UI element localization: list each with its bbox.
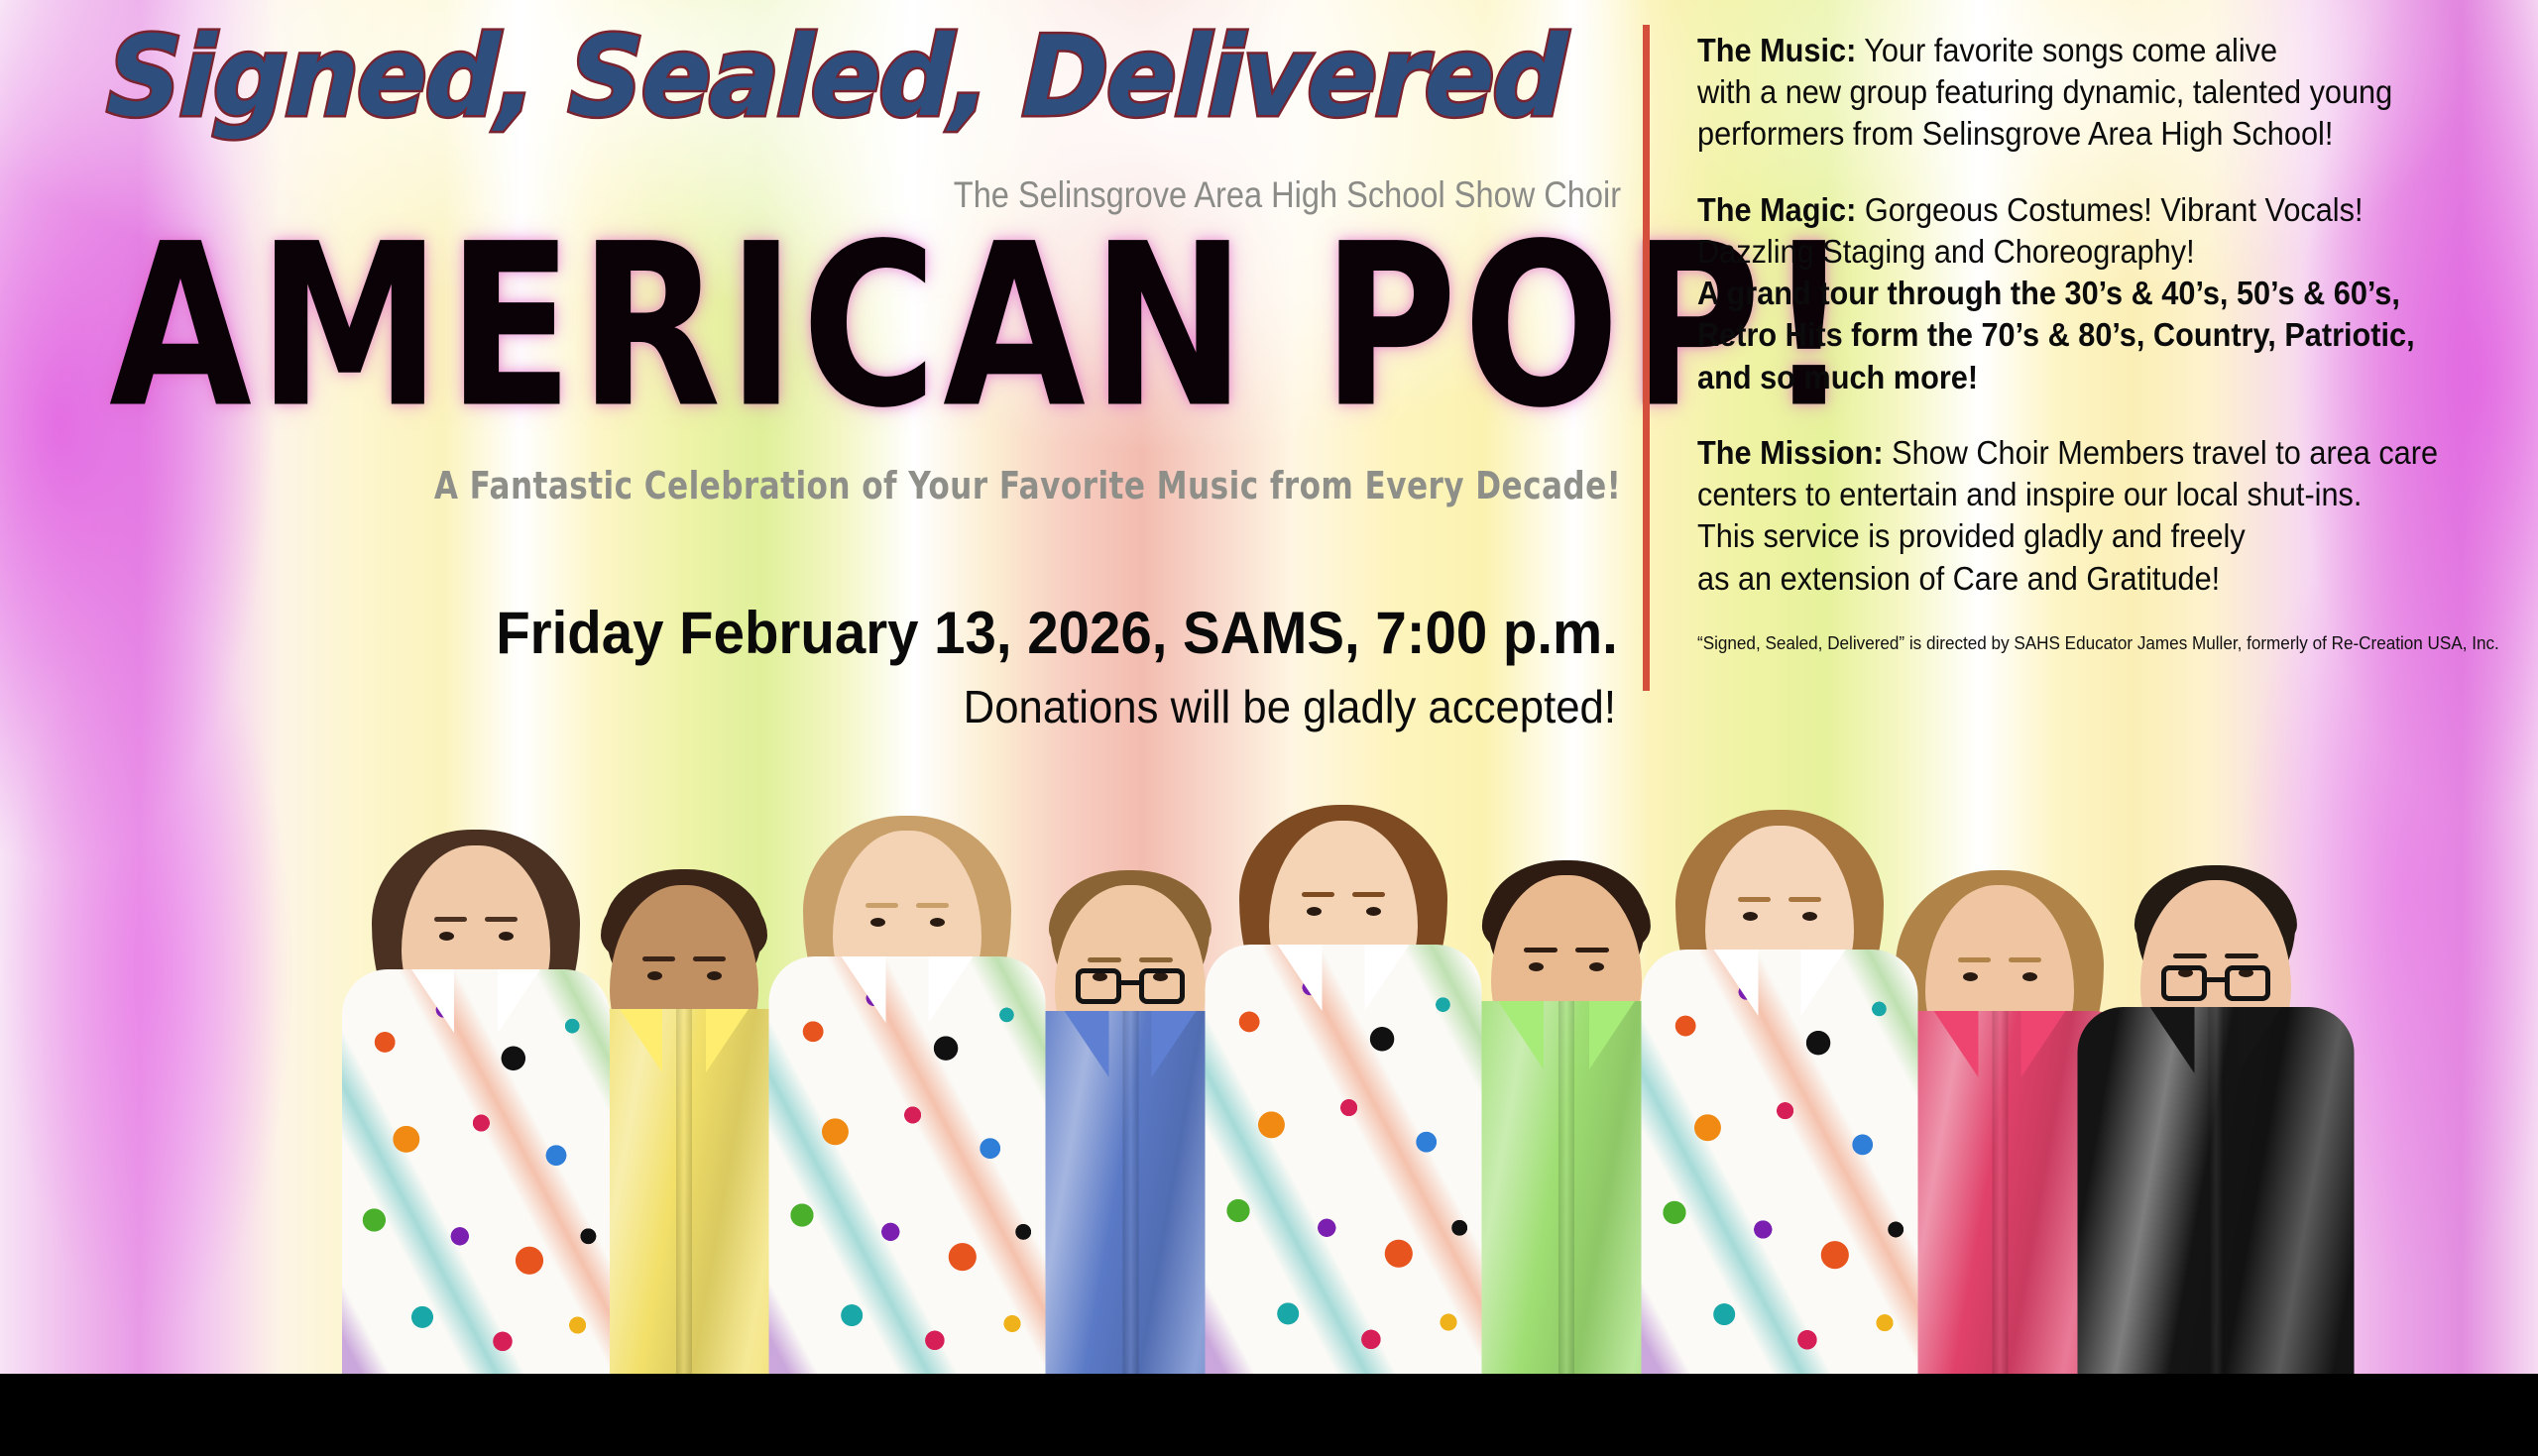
collar-right <box>1365 945 1410 1011</box>
music-line-2: with a new group featuring dynamic, tale… <box>1697 71 2454 113</box>
show-tagline: A Fantastic Celebration of Your Favorite… <box>434 464 1621 507</box>
collar-right <box>2238 1007 2282 1073</box>
member-eye-right <box>499 932 514 941</box>
member-brow-left <box>1738 897 1771 902</box>
info-block-magic: The Magic: Gorgeous Costumes! Vibrant Vo… <box>1697 189 2510 398</box>
patterned-fabric <box>1206 945 1482 1374</box>
member-brow-left <box>1302 892 1334 897</box>
member-eye-left <box>870 918 885 927</box>
member-eye-left <box>1529 962 1544 971</box>
member-eye-left <box>1743 912 1758 921</box>
collar-right <box>2021 1011 2066 1077</box>
member-brow-left <box>1088 957 1120 962</box>
member-outfit-patterned-jacket <box>1642 950 1918 1374</box>
member-brow-left <box>642 956 675 961</box>
shirt-placket <box>1122 1011 1138 1374</box>
patterned-fabric <box>342 969 610 1374</box>
member-brow-left <box>434 917 467 922</box>
member-brow-right <box>916 903 949 908</box>
glasses-bridge <box>1121 980 1139 985</box>
collar-left <box>1498 1001 1544 1069</box>
choir-member-5 <box>1190 794 1497 1374</box>
glasses-bridge <box>2207 977 2225 982</box>
member-outfit-patterned-jacket <box>769 956 1046 1374</box>
music-lead-label: The Music: <box>1697 32 1856 68</box>
show-headline: AMERICAN POP! <box>109 214 1857 439</box>
poster-title: Signed, Sealed, Delivered <box>105 22 1566 133</box>
member-outfit-patterned-jacket <box>342 969 610 1374</box>
member-eye-right <box>2022 972 2037 981</box>
shirt-placket <box>676 1009 692 1374</box>
glasses-lens-right <box>1139 968 1185 1004</box>
member-eye-right <box>707 971 722 980</box>
patterned-fabric <box>1642 950 1918 1374</box>
collar-left <box>1277 945 1322 1011</box>
mission-line-2: centers to entertain and inspire our loc… <box>1697 474 2454 515</box>
member-brow-right <box>1352 892 1385 897</box>
glasses-icon <box>2161 965 2270 1003</box>
collar-left <box>411 969 454 1033</box>
choir-photo-row <box>0 763 2538 1374</box>
member-brow-right <box>485 917 518 922</box>
collar-right <box>498 969 540 1033</box>
member-brow-left <box>1524 948 1557 952</box>
collar-left <box>1064 1011 1108 1077</box>
shirt-placket <box>2208 1007 2224 1374</box>
member-eye-right <box>1802 912 1817 921</box>
magic-line-5: and so much more! <box>1697 357 2454 398</box>
glasses-lens-right <box>2225 965 2270 1001</box>
poster-canvas: Signed, Sealed, Delivered The Selinsgrov… <box>0 0 2538 1456</box>
mission-line-4: as an extension of Care and Gratitude! <box>1697 558 2454 600</box>
collar-left <box>841 956 885 1023</box>
magic-lead-label: The Magic: <box>1697 191 1856 228</box>
collar-left <box>1713 950 1758 1016</box>
collar-right <box>1801 950 1846 1016</box>
magic-line-3: A grand tour through the 30’s & 40’s, 50… <box>1697 273 2454 314</box>
member-brow-left <box>1958 957 1991 962</box>
magic-line-2: Dazzling Staging and Choreography! <box>1697 231 2454 273</box>
choir-member-1 <box>327 819 625 1374</box>
member-eye-right <box>930 918 945 927</box>
member-brow-right <box>2009 957 2041 962</box>
collar-right <box>929 956 974 1023</box>
glasses-lens-left <box>1076 968 1121 1004</box>
magic-line-4: Retro Hits form the 70’s & 80’s, Country… <box>1697 314 2454 356</box>
member-brow-right <box>1575 948 1608 952</box>
member-outfit-black-satin <box>2078 1007 2355 1374</box>
patterned-fabric <box>769 956 1046 1374</box>
mission-lead-label: The Mission: <box>1697 434 1884 471</box>
donation-note: Donations will be gladly accepted! <box>964 680 1616 733</box>
member-eye-left <box>1963 972 1978 981</box>
music-line-3: performers from Selinsgrove Area High Sc… <box>1697 113 2454 155</box>
glasses-lens-left <box>2161 965 2207 1001</box>
mission-line-1: The Mission: Show Choir Members travel t… <box>1697 432 2454 474</box>
member-brow-right <box>693 956 726 961</box>
director-credit: “Signed, Sealed, Delivered” is directed … <box>1697 633 2470 654</box>
info-block-mission: The Mission: Show Choir Members travel t… <box>1697 432 2510 600</box>
member-brow-right <box>1788 897 1821 902</box>
choir-member-3 <box>753 804 1061 1374</box>
collar-left <box>2149 1007 2194 1073</box>
member-eye-left <box>1307 907 1322 916</box>
music-line-1-rest: Your favorite songs come alive <box>1856 32 2277 68</box>
member-eye-right <box>1589 962 1604 971</box>
member-brow-left <box>2173 953 2206 958</box>
member-brow-left <box>865 903 898 908</box>
choir-member-9 <box>2062 853 2369 1374</box>
member-eye-right <box>1366 907 1381 916</box>
collar-left <box>620 1009 662 1072</box>
shirt-placket <box>1558 1001 1574 1374</box>
choir-member-7 <box>1626 799 1933 1374</box>
bottom-black-bar <box>0 1374 2538 1456</box>
info-block-music: The Music: Your favorite songs come aliv… <box>1697 30 2510 156</box>
member-eye-left <box>439 932 454 941</box>
mission-line-1-rest: Show Choir Members travel to area care <box>1884 434 2438 471</box>
collar-left <box>1933 1011 1978 1077</box>
member-eye-left <box>647 971 662 980</box>
shirt-placket <box>1992 1011 2008 1374</box>
member-brow-right <box>2225 953 2257 958</box>
collar-right <box>706 1009 749 1072</box>
event-date-line: Friday February 13, 2026, SAMS, 7:00 p.m… <box>496 599 1618 667</box>
glasses-icon <box>1076 968 1185 1006</box>
magic-line-1: The Magic: Gorgeous Costumes! Vibrant Vo… <box>1697 189 2454 231</box>
member-brow-right <box>1139 957 1172 962</box>
magic-line-1-rest: Gorgeous Costumes! Vibrant Vocals! <box>1856 191 2363 228</box>
right-column: The Music: Your favorite songs come aliv… <box>1697 30 2510 654</box>
mission-line-3: This service is provided gladly and free… <box>1697 515 2454 557</box>
member-outfit-patterned-jacket <box>1206 945 1482 1374</box>
music-line-1: The Music: Your favorite songs come aliv… <box>1697 30 2454 71</box>
column-divider <box>1643 25 1650 691</box>
